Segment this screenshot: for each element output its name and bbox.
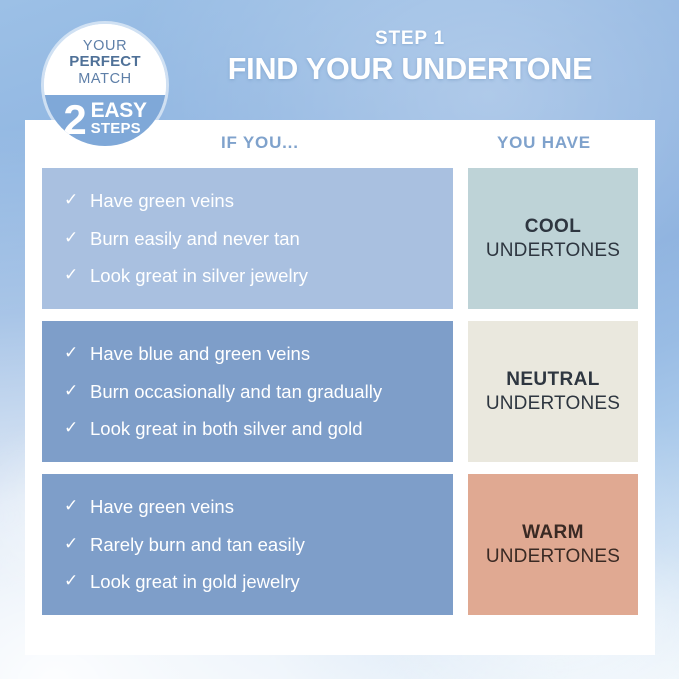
list-item-label: Burn easily and never tan <box>90 227 437 251</box>
list-item: ✓ Rarely burn and tan easily <box>64 526 437 564</box>
list-item-label: Burn occasionally and tan gradually <box>90 380 437 404</box>
check-icon: ✓ <box>64 227 90 249</box>
list-item: ✓ Look great in silver jewelry <box>64 257 437 295</box>
column-header-result: YOU HAVE <box>497 133 591 153</box>
list-item: ✓ Look great in gold jewelry <box>64 563 437 601</box>
undertone-table: ✓ Have green veins ✓ Burn easily and nev… <box>42 168 638 627</box>
list-item: ✓ Burn easily and never tan <box>64 220 437 258</box>
check-icon: ✓ <box>64 533 90 555</box>
swatch-title: COOL <box>525 215 582 239</box>
check-icon: ✓ <box>64 417 90 439</box>
badge-line-perfect: PERFECT <box>69 54 140 71</box>
list-item: ✓ Have blue and green veins <box>64 335 437 373</box>
list-item: ✓ Have green veins <box>64 182 437 220</box>
page-header: STEP 1 FIND YOUR UNDERTONE <box>170 28 650 87</box>
badge-bottom-half: 2 EASY STEPS <box>44 95 166 146</box>
badge-steps-label: EASY STEPS <box>91 100 147 136</box>
page-title: FIND YOUR UNDERTONE <box>170 52 650 87</box>
table-row: ✓ Have green veins ✓ Burn easily and nev… <box>42 168 638 309</box>
list-item-label: Have green veins <box>90 495 437 519</box>
table-row: ✓ Have blue and green veins ✓ Burn occas… <box>42 321 638 462</box>
check-icon: ✓ <box>64 570 90 592</box>
table-row: ✓ Have green veins ✓ Rarely burn and tan… <box>42 474 638 615</box>
badge-line-match: MATCH <box>78 71 131 87</box>
undertone-swatch-neutral: NEUTRAL UNDERTONES <box>468 321 638 462</box>
list-item-label: Look great in gold jewelry <box>90 570 437 594</box>
check-icon: ✓ <box>64 189 90 211</box>
perfect-match-badge: YOUR PERFECT MATCH 2 EASY STEPS <box>44 24 166 146</box>
badge-step-count: 2 <box>63 102 86 138</box>
list-item-label: Look great in both silver and gold <box>90 417 437 441</box>
criteria-cell: ✓ Have green veins ✓ Rarely burn and tan… <box>42 474 453 615</box>
step-label: STEP 1 <box>170 28 650 50</box>
swatch-subtitle: UNDERTONES <box>486 392 620 416</box>
list-item-label: Look great in silver jewelry <box>90 264 437 288</box>
list-item-label: Rarely burn and tan easily <box>90 533 437 557</box>
list-item-label: Have blue and green veins <box>90 342 437 366</box>
criteria-cell: ✓ Have green veins ✓ Burn easily and nev… <box>42 168 453 309</box>
check-icon: ✓ <box>64 495 90 517</box>
badge-steps-text: STEPS <box>91 121 141 136</box>
undertone-swatch-cool: COOL UNDERTONES <box>468 168 638 309</box>
swatch-title: WARM <box>522 521 584 545</box>
list-item: ✓ Look great in both silver and gold <box>64 410 437 448</box>
swatch-subtitle: UNDERTONES <box>486 239 620 263</box>
swatch-title: NEUTRAL <box>506 368 600 392</box>
check-icon: ✓ <box>64 380 90 402</box>
list-item-label: Have green veins <box>90 189 437 213</box>
undertone-swatch-warm: WARM UNDERTONES <box>468 474 638 615</box>
check-icon: ✓ <box>64 342 90 364</box>
criteria-cell: ✓ Have blue and green veins ✓ Burn occas… <box>42 321 453 462</box>
list-item: ✓ Have green veins <box>64 488 437 526</box>
check-icon: ✓ <box>64 264 90 286</box>
badge-line-your: YOUR <box>83 38 127 54</box>
badge-top-half: YOUR PERFECT MATCH <box>44 24 166 95</box>
list-item: ✓ Burn occasionally and tan gradually <box>64 373 437 411</box>
column-header-criteria: IF YOU... <box>221 133 299 153</box>
badge-easy-text: EASY <box>91 100 147 121</box>
swatch-subtitle: UNDERTONES <box>486 545 620 569</box>
